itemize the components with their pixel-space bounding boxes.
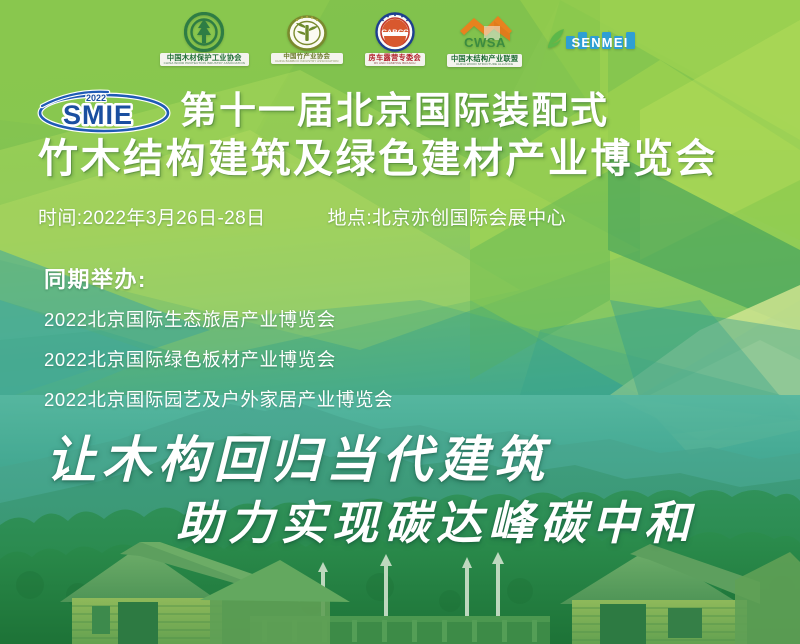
wooden-cabin-right (560, 544, 800, 644)
house-roof-emblem: CWSA (454, 11, 516, 53)
concurrent-events-heading: 同期举办: (44, 262, 393, 294)
slogan-line-1: 让木构回归当代建筑 (46, 420, 550, 492)
slogan-line-2: 助力实现碳达峰碳中和 (176, 487, 696, 553)
smie-acronym: SMIE (63, 100, 133, 130)
exhibition-poster: 中国木材保护工业协会 CHINA WOOD PROTECTION INDUSTR… (0, 0, 800, 644)
logo-caption-2: 中国竹产业协会 CHINA BAMBOO INDUSTRY ASSOCIATIO… (271, 53, 342, 64)
svg-text:CWSA: CWSA (464, 35, 506, 50)
logo-name-en: CHINA WOOD STRUCTURE ALLIANCE (456, 63, 513, 66)
svg-text:CABCC: CABCC (381, 28, 409, 37)
pine-tree-circle-emblem (184, 12, 224, 52)
wooden-cabin-left (60, 542, 350, 644)
sponsor-logo-cabcc: CABCC 房车露营专委会 RV AND CAMPING BRANCH (365, 12, 425, 65)
smie-brand-logo: 2022 2022 SMIE SMIE (36, 88, 172, 134)
sponsor-logo-cwsa: CWSA 中国木结构产业联盟 CHINA WOOD STRUCTURE ALLI… (447, 11, 522, 66)
headline-line-1-row: 2022 2022 SMIE SMIE 第十一届北京国际装配式 (18, 88, 782, 134)
headline-block: 2022 2022 SMIE SMIE 第十一届北京国际装配式 竹木结构建筑及绿… (0, 88, 800, 180)
concurrent-event-item: 2022北京国际生态旅居产业博览会 (44, 306, 393, 332)
logo-caption-1: 中国木材保护工业协会 CHINA WOOD PROTECTION INDUSTR… (160, 53, 249, 65)
cabcc-shield-emblem: CABCC (375, 12, 415, 52)
sponsor-logo-china-wood-protection: 中国木材保护工业协会 CHINA WOOD PROTECTION INDUSTR… (160, 12, 249, 65)
logo-caption-4: 中国木结构产业联盟 CHINA WOOD STRUCTURE ALLIANCE (447, 54, 522, 66)
logo-caption-3: 房车露营专委会 RV AND CAMPING BRANCH (365, 53, 425, 65)
concurrent-event-item: 2022北京国际绿色板材产业博览会 (44, 346, 393, 372)
logo-name-en: CHINA BAMBOO INDUSTRY ASSOCIATION (275, 60, 338, 63)
logo-name-en: CHINA WOOD PROTECTION INDUSTRY ASSOCIATI… (164, 62, 245, 65)
event-info-line: 时间:2022年3月26日-28日 地点:北京亦创国际会展中心 (38, 203, 566, 230)
event-venue: 地点:北京亦创国际会展中心 (328, 203, 566, 230)
sponsor-logo-bamboo-association: 中国竹产业协会 CHINA BAMBOO INDUSTRY ASSOCIATIO… (271, 14, 342, 64)
event-date: 时间:2022年3月26日-28日 (38, 203, 266, 230)
title-line-2: 竹木结构建筑及绿色建材产业博览会 (18, 138, 782, 180)
sponsor-logo-senmei: SENMEI (544, 22, 640, 56)
concurrent-event-item: 2022北京国际园艺及户外家居产业博览会 (44, 386, 393, 412)
bamboo-oval-emblem (287, 14, 327, 52)
svg-text:SENMEI: SENMEI (572, 35, 629, 50)
patio-umbrellas (318, 552, 504, 616)
concurrent-events-block: 同期举办: 2022北京国际生态旅居产业博览会 2022北京国际绿色板材产业博览… (44, 262, 393, 426)
title-line-1: 第十一届北京国际装配式 (180, 92, 609, 131)
logo-name-en: RV AND CAMPING BRANCH (374, 62, 416, 65)
leaf-sprout-wordmark: SENMEI (544, 22, 640, 56)
sponsor-logo-strip: 中国木材保护工业协会 CHINA WOOD PROTECTION INDUSTR… (0, 8, 800, 70)
